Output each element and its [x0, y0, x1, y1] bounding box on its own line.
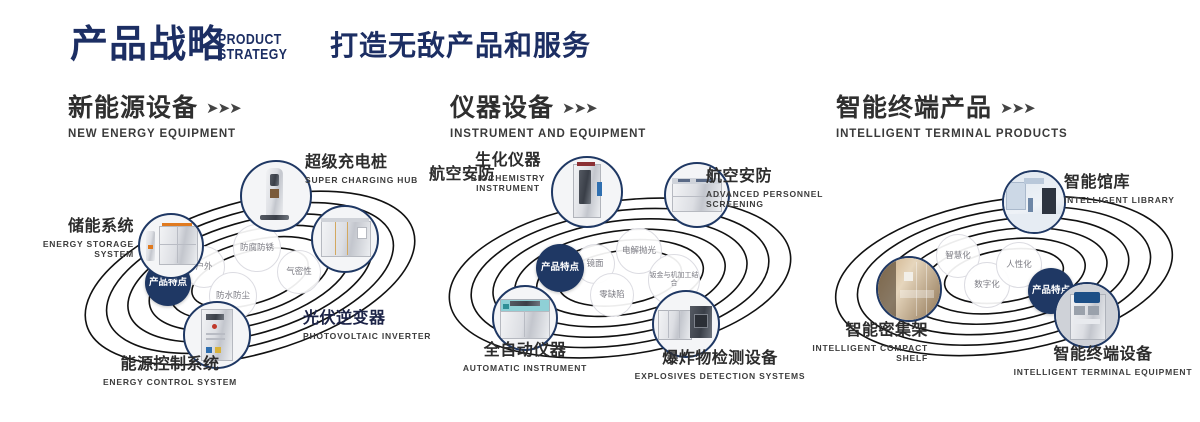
- section-title-en: NEW ENERGY EQUIPMENT: [68, 128, 241, 140]
- label-en: INTELLIGENT LIBRARY: [1064, 195, 1200, 206]
- label-en: INTELLIGENT TERMINAL EQUIPMENT: [1003, 367, 1200, 378]
- label-energy-storage: 储能系统 ENERGY STORAGE SYSTEM: [10, 218, 134, 260]
- page-title-en: PRODUCT STRATEGY: [218, 32, 287, 62]
- node-photovoltaic-inverter[interactable]: [311, 205, 379, 273]
- node-charging-pile[interactable]: [240, 160, 312, 232]
- page-title-en-line2: STRATEGY: [218, 47, 287, 62]
- label-intelligent-terminal-equipment: 智能终端设备 INTELLIGENT TERMINAL EQUIPMENT: [1003, 346, 1200, 377]
- label-biochemistry-instrument: 生化仪器 BIOCHEMISTRY INSTRUMENT: [438, 152, 578, 194]
- product-strategy-infographic: 产品战略 PRODUCT STRATEGY 打造无敌产品和服务 新能源设备➤➤➤…: [0, 0, 1200, 422]
- node-energy-storage[interactable]: [138, 213, 204, 279]
- chevron-right-icon: ➤➤➤: [1000, 101, 1035, 116]
- hub-bubble: 产品特点: [536, 244, 584, 292]
- label-en: INTELLIGENT COMPACT SHELF: [780, 343, 928, 364]
- label-cn: 智能终端设备: [1003, 346, 1200, 364]
- node-intelligent-compact-shelf[interactable]: [876, 256, 942, 322]
- feature-bubble: 零缺陷: [590, 273, 634, 317]
- page-title-cn: 产品战略: [70, 26, 226, 64]
- node-intelligent-terminal-equipment[interactable]: [1054, 282, 1120, 348]
- label-en: ENERGY STORAGE SYSTEM: [10, 239, 134, 260]
- label-energy-control-system: 能源控制系统 ENERGY CONTROL SYSTEM: [75, 356, 265, 387]
- label-en: EXPLOSIVES DETECTION SYSTEMS: [620, 371, 820, 382]
- section-title-en: INSTRUMENT AND EQUIPMENT: [450, 128, 646, 140]
- label-intelligent-library: 智能馆库 INTELLIGENT LIBRARY: [1064, 174, 1200, 205]
- label-en: ENERGY CONTROL SYSTEM: [75, 377, 265, 388]
- node-explosives-detection[interactable]: [652, 290, 720, 358]
- page-subtitle: 打造无敌产品和服务: [330, 32, 591, 60]
- label-cn: 生化仪器: [438, 152, 578, 170]
- label-cn: 储能系统: [10, 218, 134, 236]
- page-header: 产品战略 PRODUCT STRATEGY 打造无敌产品和服务: [0, 0, 1200, 88]
- chevron-right-icon: ➤➤➤: [562, 101, 597, 116]
- chevron-right-icon: ➤➤➤: [206, 101, 241, 116]
- section-title-instrument: 仪器设备➤➤➤ INSTRUMENT AND EQUIPMENT: [450, 96, 646, 140]
- section-title-cn: 新能源设备➤➤➤: [68, 96, 241, 121]
- label-intelligent-compact-shelf: 智能密集架 INTELLIGENT COMPACT SHELF: [780, 322, 928, 364]
- section-title-new-energy: 新能源设备➤➤➤ NEW ENERGY EQUIPMENT: [68, 96, 241, 140]
- page-title-en-line1: PRODUCT: [218, 32, 287, 47]
- label-cn: 智能馆库: [1064, 174, 1200, 192]
- section-title-cn: 仪器设备➤➤➤: [450, 96, 646, 121]
- section-title-en: INTELLIGENT TERMINAL PRODUCTS: [836, 128, 1068, 140]
- label-cn: 能源控制系统: [75, 356, 265, 374]
- cluster-instrument: 镜面 电解抛光 零缺陷 钣金与机加工结合 产品特点 航空安防 生化仪器 BIOC…: [420, 150, 820, 400]
- node-intelligent-library[interactable]: [1002, 170, 1066, 234]
- cluster-new-energy: 户外 防腐防锈 防水防尘 气密性 产品特点 储能系统 ENERGY STORAG…: [55, 150, 445, 400]
- cluster-intelligent-terminal: 智慧化 数字化 人性化 产品特点 智能馆库 INTELLIGENT LIBRAR…: [808, 150, 1200, 400]
- label-cn: 智能密集架: [780, 322, 928, 340]
- label-en: AUTOMATIC INSTRUMENT: [435, 363, 615, 374]
- label-cn: 全自动仪器: [435, 342, 615, 360]
- section-title-cn: 智能终端产品➤➤➤: [836, 96, 1068, 121]
- label-automatic-instrument: 全自动仪器 AUTOMATIC INSTRUMENT: [435, 342, 615, 373]
- section-title-intelligent-terminal: 智能终端产品➤➤➤ INTELLIGENT TERMINAL PRODUCTS: [836, 96, 1068, 140]
- label-en: BIOCHEMISTRY INSTRUMENT: [438, 173, 578, 194]
